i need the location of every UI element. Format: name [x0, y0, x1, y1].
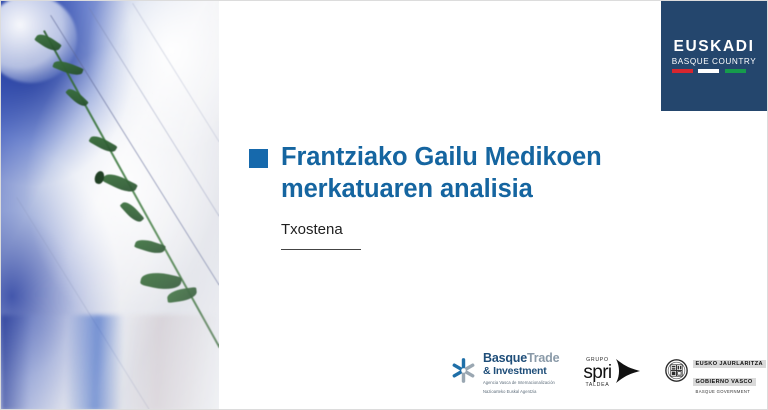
blue-square-marker-icon [249, 149, 268, 168]
asterisk-snowflake-icon [451, 358, 476, 388]
government-crest-icon [665, 359, 688, 387]
flag-segment-green [725, 69, 746, 72]
cover-photo-panel [1, 1, 219, 410]
basque-trade-line-2: & Investment [483, 366, 559, 377]
page-title-line-1: Frantziako Gailu Medikoen [281, 143, 602, 171]
government-line-gobierno: GOBIERNO VASCO [693, 378, 756, 386]
title-block: Frantziako Gailu Medikoen merkatuaren an… [249, 141, 689, 250]
euskadi-brand-panel: EUSKADI BASQUE COUNTRY [661, 1, 767, 111]
subtitle-divider [281, 249, 361, 250]
ikurrina-color-bar [672, 69, 746, 72]
basque-government-logo: EUSKO JAURLARITZA GOBIERNO VASCO BASQUE … [665, 352, 767, 395]
flag-segment-white [698, 69, 719, 72]
government-line-eusko: EUSKO JAURLARITZA [693, 360, 766, 368]
basque-trade-text: BasqueTrade & Investment Agencia Vasca d… [483, 352, 559, 395]
spri-arrow-icon [615, 357, 641, 390]
government-text: EUSKO JAURLARITZA GOBIERNO VASCO BASQUE … [693, 352, 767, 395]
basque-country-tagline: BASQUE COUNTRY [672, 58, 756, 66]
basque-trade-investment-logo: BasqueTrade & Investment Agencia Vasca d… [451, 352, 559, 395]
subtitle-wrap: Txostena [281, 221, 689, 250]
footer-logo-strip: BasqueTrade & Investment Agencia Vasca d… [451, 352, 767, 395]
euskadi-wordmark: EUSKADI [672, 39, 756, 55]
basque-trade-line-1: BasqueTrade [483, 352, 559, 365]
page-title-line-2: merkatuaren analisia [281, 175, 533, 203]
flag-segment-red [672, 69, 693, 72]
basque-trade-sub-1: Agencia Vasca de Internacionalización [483, 380, 559, 386]
spri-wordmark: spri [583, 364, 611, 382]
trade-word: Trade [527, 351, 559, 365]
page-subtitle: Txostena [281, 221, 689, 239]
basque-trade-sub-2: Nazioarteko Euskal Agentzia [483, 389, 559, 395]
government-line-english: BASQUE GOVERNMENT [693, 390, 767, 395]
photo-soft-focus-overlay [1, 1, 219, 410]
spri-taldea-label: TALDEA [583, 383, 611, 388]
presentation-slide: EUSKADI BASQUE COUNTRY Frantziako Gailu … [0, 0, 768, 410]
page-title: Frantziako Gailu Medikoen merkatuaren an… [281, 141, 602, 205]
spri-group-logo: GRUPO spri TALDEA [583, 357, 640, 390]
basque-word: Basque [483, 351, 527, 365]
spri-text: GRUPO spri TALDEA [583, 358, 611, 388]
title-row: Frantziako Gailu Medikoen merkatuaren an… [249, 141, 689, 205]
euskadi-logo: EUSKADI BASQUE COUNTRY [672, 39, 756, 72]
